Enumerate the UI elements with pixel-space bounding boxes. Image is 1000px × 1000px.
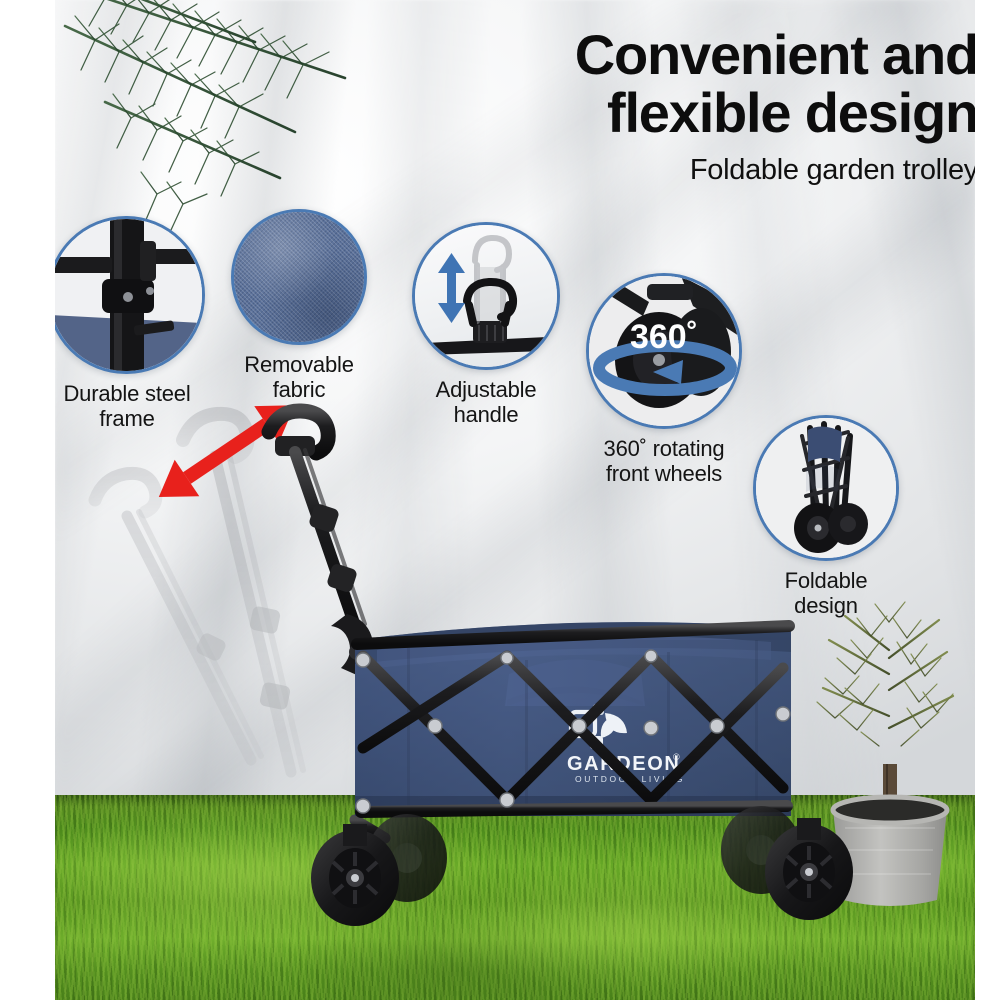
headline-block: Convenient and flexible design Foldable … [358,26,978,186]
feature-removable-fabric: Removable fabric [216,209,382,402]
feature-label: Foldable design [738,568,914,618]
left-margin [0,0,55,1000]
wheel-rotation-icon: 360˚ [586,273,742,429]
up-down-arrow [438,253,465,323]
headline-line-2: flexible design [358,84,978,142]
feature-durable-steel-frame: Durable steel frame [47,216,207,431]
right-margin [975,0,1000,1000]
feature-foldable-design: Foldable design [738,415,914,618]
feature-label: Durable steel frame [47,381,207,431]
feature-adjustable-handle: Adjustable handle [400,222,572,427]
product-banner: GARDEON ® OUTDOOR LIVING [0,0,1000,1000]
adjustable-handle-icon [412,222,560,370]
feature-rotating-front-wheels: 360˚ 360˚ rotating front wheels [571,273,757,486]
feature-label: Removable fabric [216,352,382,402]
lawn-foreground [55,795,975,1000]
steel-frame-icon [47,216,205,374]
fabric-swatch-icon [231,209,367,345]
foldable-design-icon [753,415,899,561]
feature-label: Adjustable handle [400,377,572,427]
feature-label: 360˚ rotating front wheels [571,436,757,486]
headline-subtitle: Foldable garden trolley [358,154,978,186]
badge-360: 360˚ [630,318,698,356]
headline-line-1: Convenient and [358,26,978,84]
